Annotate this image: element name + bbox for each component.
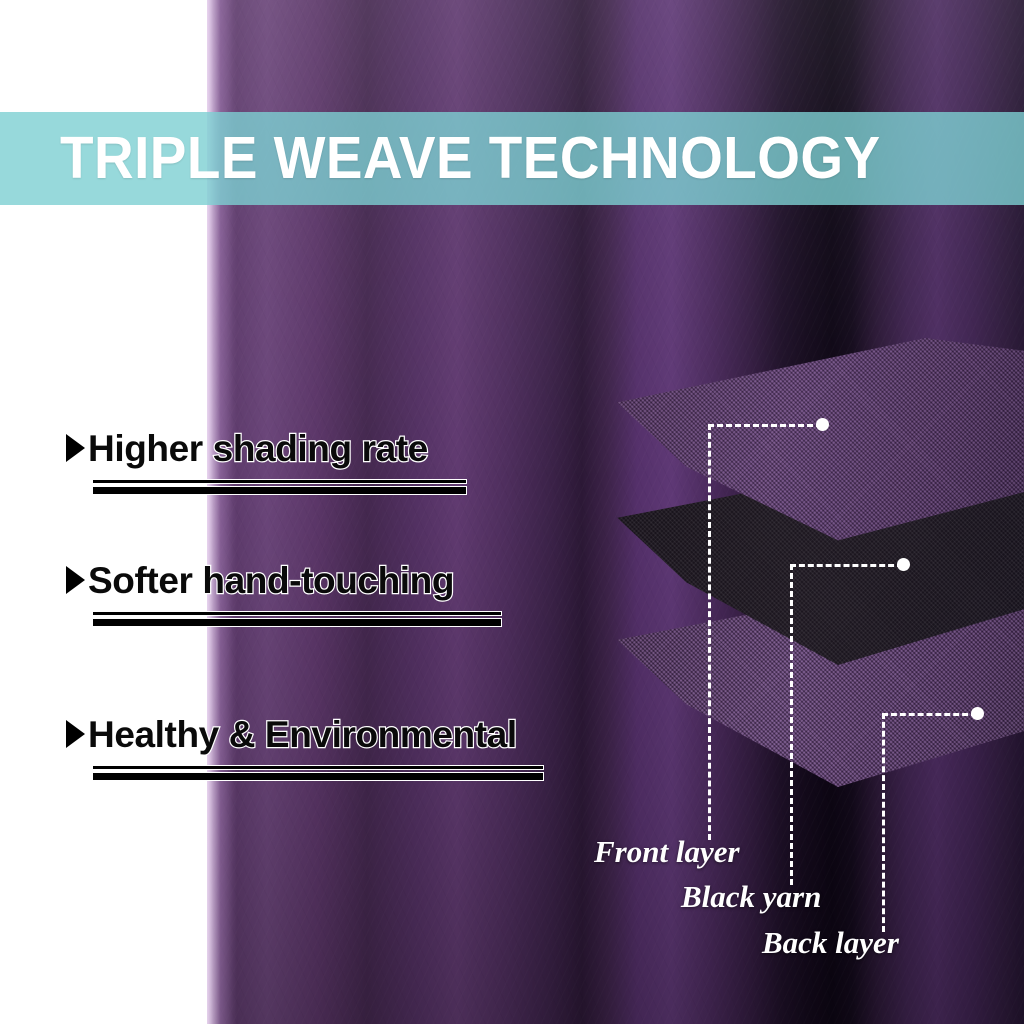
underline-thin-rule — [92, 765, 544, 770]
underline-thick-rule — [92, 772, 544, 781]
feature-underline — [92, 479, 467, 495]
black-yarn-label: Black yarn — [681, 879, 821, 915]
triangle-right-icon — [66, 720, 85, 748]
underline-thick-rule — [92, 618, 502, 627]
feature-label: Softer hand-touching — [88, 562, 454, 599]
feature-item-healthy-environmental[interactable]: Healthy & Environmental — [66, 710, 544, 781]
feature-underline — [92, 611, 502, 627]
fabric-layer-diagram — [598, 330, 1024, 860]
feature-row: Higher shading rate — [66, 424, 467, 472]
feature-label: Healthy & Environmental — [88, 716, 517, 753]
page-title: TRIPLE WEAVE TECHNOLOGY — [60, 129, 881, 188]
feature-item-shading-rate[interactable]: Higher shading rate — [66, 424, 467, 495]
feature-row: Softer hand-touching — [66, 556, 502, 604]
feature-row: Healthy & Environmental — [66, 710, 544, 758]
front-layer-label: Front layer — [594, 834, 740, 870]
underline-thin-rule — [92, 611, 502, 616]
infographic-canvas: TRIPLE WEAVE TECHNOLOGY Higher shading r… — [0, 0, 1024, 1024]
back-layer-label: Back layer — [762, 925, 899, 961]
underline-thick-rule — [92, 486, 467, 495]
header-banner: TRIPLE WEAVE TECHNOLOGY — [0, 112, 1024, 205]
feature-underline — [92, 765, 544, 781]
underline-thin-rule — [92, 479, 467, 484]
feature-label: Higher shading rate — [88, 430, 428, 467]
feature-item-hand-touching[interactable]: Softer hand-touching — [66, 556, 502, 627]
triangle-right-icon — [66, 434, 85, 462]
triangle-right-icon — [66, 566, 85, 594]
